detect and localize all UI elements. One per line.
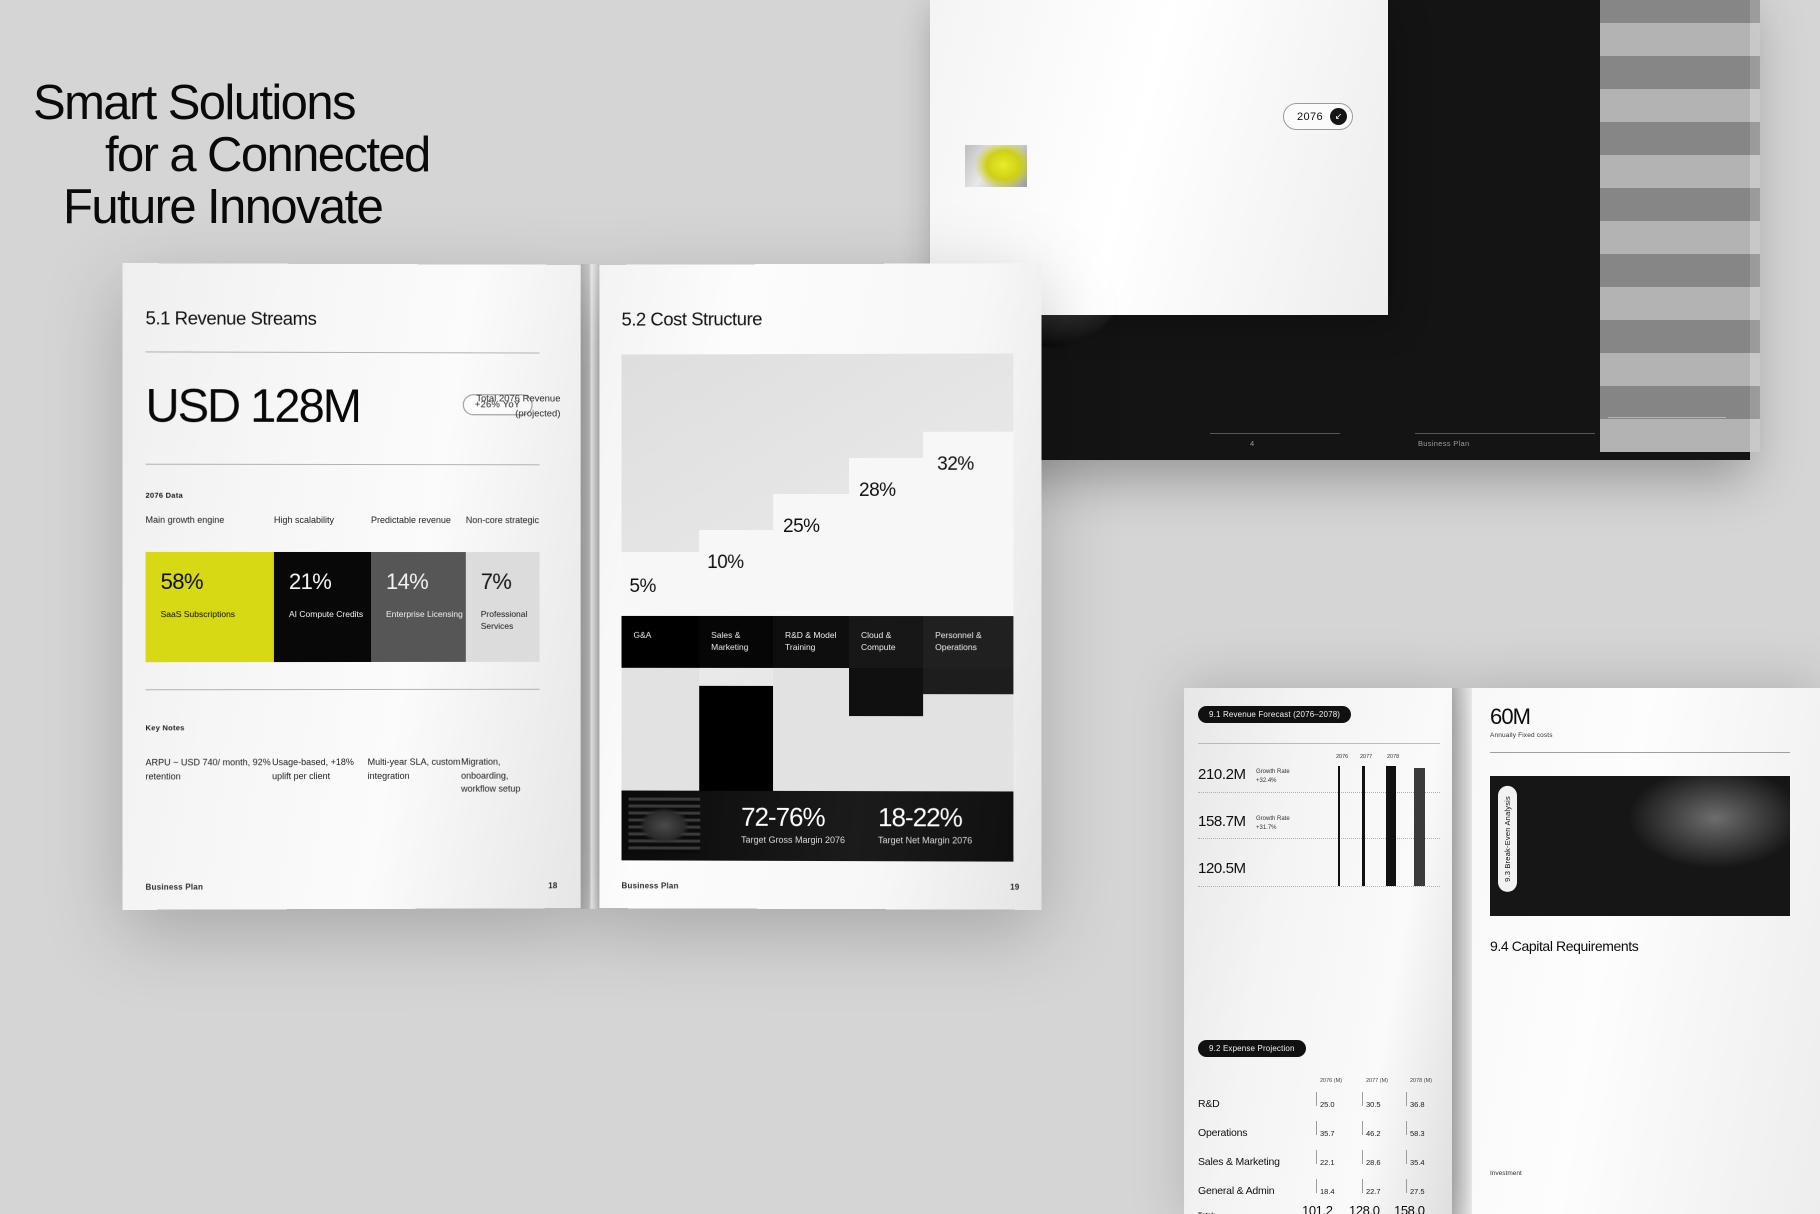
cover-thumbnail-image <box>965 145 1027 187</box>
expense-row-name-2: Sales & Marketing <box>1198 1156 1280 1168</box>
data-kicker: 2076 Data <box>146 491 183 500</box>
segment-label-1: AI Compute Credits <box>289 608 363 620</box>
notes-kicker: Key Notes <box>146 723 185 732</box>
row-tick-a-1 <box>1316 1121 1317 1135</box>
forecast-year-1: 2077 <box>1360 754 1372 760</box>
forecast-bar-1 <box>1362 766 1365 886</box>
striped-sphere-graphic <box>628 798 700 854</box>
cover-footer-rule-right <box>1415 433 1595 434</box>
footer-brand-left: Business Plan <box>146 883 204 892</box>
net-margin-value: 18-22% <box>878 804 972 832</box>
segment-label-0: SaaS Subscriptions <box>161 608 235 620</box>
key-note-2: Multi-year SLA, custom integration <box>368 756 461 797</box>
segment-pct-2: 14% <box>386 571 451 593</box>
page-title-right: 5.2 Cost Structure <box>622 308 763 330</box>
segment-ai-compute[interactable]: 21% AI Compute Credits <box>274 552 371 662</box>
forecast-page: 9.1 Revenue Forecast (2076–2078) 210.2M … <box>1184 688 1452 1214</box>
expense-cell-3-0: 18.4 <box>1320 1187 1335 1196</box>
capital-page: 60M Annually Fixed costs 9.3 Break-Even … <box>1472 688 1820 1214</box>
stair-tail-0 <box>622 668 700 804</box>
cover-footer-rule-left <box>1210 433 1340 434</box>
cover-title: Smart Solutions for a Connected Future I… <box>33 78 453 234</box>
table-row[interactable]: Operations 35.7 46.2 58.3 <box>1198 1121 1440 1150</box>
divider-notes <box>146 689 540 690</box>
forecast-year-2: 2078 <box>1387 754 1399 760</box>
segment-pct-1: 21% <box>289 571 356 593</box>
stair-tail-2 <box>773 668 849 804</box>
margin-summary-panel: 72-76% Target Gross Margin 2076 18-22% T… <box>622 791 1014 862</box>
expense-row-name-1: Operations <box>1198 1127 1247 1139</box>
cover-footer-brand: Business Plan <box>1418 439 1469 448</box>
bottom-right-spread: 9.1 Revenue Forecast (2076–2078) 210.2M … <box>1184 688 1820 1214</box>
row-tick-b-3 <box>1362 1179 1363 1193</box>
forecast-growth-label-1: Growth Rate <box>1256 815 1290 824</box>
stair-tail-4 <box>923 668 1013 694</box>
striped-back-page <box>1600 0 1760 452</box>
expense-cell-2-0: 22.1 <box>1320 1158 1335 1167</box>
segment-label-2: Enterprise Licensing <box>386 608 463 620</box>
breakeven-photo <box>1490 776 1790 916</box>
forecast-bar-0 <box>1338 766 1340 886</box>
table-row[interactable]: R&D 25.0 30.5 36.8 <box>1198 1092 1440 1121</box>
expense-cell-0-0: 25.0 <box>1320 1100 1335 1109</box>
segment-label-3: Professional Services <box>481 608 540 633</box>
footer-page-left: 18 <box>548 881 557 890</box>
expense-cell-1-0: 35.7 <box>1320 1129 1335 1138</box>
expense-col-header-1: 2077 (M) <box>1366 1078 1388 1084</box>
segment-professional[interactable]: 7% Professional Services <box>466 552 540 662</box>
net-margin-label: Target Net Margin 2076 <box>878 835 972 845</box>
page-title: 5.1 Revenue Streams <box>146 307 317 330</box>
expense-cell-2-2: 35.4 <box>1410 1158 1425 1167</box>
striped-page-rule <box>1608 417 1726 418</box>
data-column-3: Non-core strategic <box>466 514 540 528</box>
expense-total-2: 158.0 <box>1394 1203 1425 1214</box>
table-row[interactable]: Sales & Marketing 22.1 28.6 35.4 <box>1198 1150 1440 1179</box>
divider-mid <box>146 464 540 466</box>
gross-margin-item: 72-76% Target Gross Margin 2076 <box>741 804 845 846</box>
cost-cell-rnd[interactable]: R&D & Model Training <box>773 616 849 668</box>
forecast-gridline-2 <box>1198 886 1440 887</box>
capital-requirements-title: 9.4 Capital Requirements <box>1490 938 1640 956</box>
row-tick-c-3 <box>1406 1179 1407 1193</box>
key-note-0: ARPU ~ USD 740/ month, 92% retention <box>146 756 272 797</box>
gross-margin-value: 72-76% <box>741 804 845 832</box>
cover-footer-page: 4 <box>1250 439 1254 448</box>
expense-col-header-2: 2078 (M) <box>1410 1078 1432 1084</box>
key-notes: ARPU ~ USD 740/ month, 92% retention Usa… <box>146 756 540 797</box>
stair-value-4: 32% <box>937 454 974 476</box>
row-tick-b-0 <box>1362 1092 1363 1106</box>
segment-pct-3: 7% <box>481 571 525 593</box>
forecast-badge: 9.1 Revenue Forecast (2076–2078) <box>1198 706 1351 723</box>
stair-value-2: 25% <box>783 516 820 538</box>
cost-label-2: R&D & Model Training <box>785 629 849 654</box>
expense-cell-1-2: 58.3 <box>1410 1129 1425 1138</box>
cost-label-0: G&A <box>633 629 651 641</box>
bottom-right-gutter <box>1452 688 1472 1214</box>
data-columns: Main growth engine High scalability Pred… <box>146 514 540 528</box>
capital-page-rule <box>1490 752 1790 753</box>
forecast-bar-2 <box>1386 766 1396 886</box>
cover-title-line-1: Smart Solutions <box>33 78 453 130</box>
cost-label-band: G&A Sales & Marketing R&D & Model Traini… <box>622 616 1014 668</box>
stair-value-1: 10% <box>707 552 743 574</box>
revenue-segment-bar: 58% SaaS Subscriptions 21% AI Compute Cr… <box>146 552 540 662</box>
row-tick-c-2 <box>1406 1150 1407 1164</box>
cost-cell-personnel[interactable]: Personnel & Operations <box>923 616 1013 668</box>
row-tick-b-2 <box>1362 1150 1363 1164</box>
expense-cell-0-2: 36.8 <box>1410 1100 1425 1109</box>
segment-pct-0: 58% <box>161 571 259 593</box>
cost-label-3: Cloud & Compute <box>861 629 923 654</box>
forecast-value-0: 210.2M <box>1198 766 1246 783</box>
investment-label: Investment <box>1490 1170 1522 1177</box>
fixed-costs-value: 60M <box>1490 704 1530 730</box>
forecast-value-1: 158.7M <box>1198 813 1246 830</box>
footer-brand-right: Business Plan <box>622 881 679 890</box>
expense-total-1: 128.0 <box>1349 1203 1380 1214</box>
revenue-headline: USD 128M <box>146 381 360 429</box>
page-19: 5.2 Cost Structure 5% 10% 25% 28% 32% G&… <box>600 263 1042 910</box>
cover-title-line-3: Future Innovate <box>33 182 453 234</box>
forecast-bars <box>1334 766 1444 886</box>
spread-gutter <box>581 264 599 909</box>
expense-cell-2-1: 28.6 <box>1366 1158 1381 1167</box>
stair-gap-4 <box>923 694 1013 804</box>
cover-title-line-2: for a Connected <box>33 130 453 182</box>
row-tick-b-1 <box>1362 1121 1363 1135</box>
forecast-year-0: 2076 <box>1336 754 1348 760</box>
cost-cell-cloud[interactable]: Cloud & Compute <box>849 616 923 668</box>
stair-value-3: 28% <box>859 480 896 502</box>
arrow-down-left-icon: ↙ <box>1330 108 1347 125</box>
cost-label-4: Personnel & Operations <box>935 629 1013 654</box>
cover-year-badge[interactable]: 2076 ↙ <box>1283 103 1353 130</box>
row-tick-c-1 <box>1406 1121 1407 1135</box>
row-tick-c-0 <box>1406 1092 1407 1106</box>
page-18: 5.1 Revenue Streams USD 128M +26% YoY To… <box>122 263 580 910</box>
cost-cell-sales[interactable]: Sales & Marketing <box>699 616 773 668</box>
expense-row-name-3: General & Admin <box>1198 1185 1274 1197</box>
expense-cell-3-2: 27.5 <box>1410 1187 1425 1196</box>
net-margin-item: 18-22% Target Net Margin 2076 <box>878 804 972 846</box>
total-revenue-note: Total 2076 Revenue (projected) <box>441 392 561 422</box>
fixed-costs-label: Annually Fixed costs <box>1490 732 1553 739</box>
forecast-growth-label-0: Growth Rate <box>1256 768 1290 777</box>
divider-top <box>146 351 540 353</box>
cover-year-label: 2076 <box>1297 111 1323 123</box>
data-column-2: Predictable revenue <box>371 514 466 528</box>
footer-page-right: 19 <box>1010 883 1019 892</box>
expense-cell-1-1: 46.2 <box>1366 1129 1381 1138</box>
expense-table: 2076 (M) 2077 (M) 2078 (M) R&D 25.0 30.5… <box>1198 1092 1440 1208</box>
cost-cell-ga[interactable]: G&A <box>622 616 700 668</box>
segment-enterprise[interactable]: 14% Enterprise Licensing <box>371 552 466 662</box>
breakeven-pill: 9.3 Break-Even Analysis <box>1498 786 1517 892</box>
stair-tail-3 <box>849 668 923 716</box>
row-tick-a-2 <box>1316 1150 1317 1164</box>
expense-row-name-0: R&D <box>1198 1098 1220 1110</box>
data-column-1: High scalability <box>274 514 371 528</box>
stair-step-2 <box>773 494 849 616</box>
stair-value-0: 5% <box>629 576 655 598</box>
expense-cell-0-1: 30.5 <box>1366 1100 1381 1109</box>
main-spread: 5.1 Revenue Streams USD 128M +26% YoY To… <box>123 264 1039 909</box>
scene: Turning Intelligence into Impact Solutio… <box>0 0 1820 1214</box>
key-note-1: Usage-based, +18% uplift per client <box>272 756 368 797</box>
row-tick-a-0 <box>1316 1092 1317 1106</box>
data-column-0: Main growth engine <box>146 514 274 528</box>
expense-col-header-0: 2076 (M) <box>1320 1078 1342 1084</box>
cost-label-1: Sales & Marketing <box>711 629 773 654</box>
forecast-value-2: 120.5M <box>1198 860 1246 877</box>
segment-saas[interactable]: 58% SaaS Subscriptions <box>146 552 274 662</box>
key-note-3: Migration, onboarding, workflow setup <box>461 756 540 797</box>
forecast-growth-0: +32.4% <box>1256 777 1277 786</box>
row-tick-a-3 <box>1316 1179 1317 1193</box>
expense-total-0: 101.2 <box>1302 1203 1333 1214</box>
forecast-rule <box>1198 743 1440 744</box>
cost-structure-chart: 5% 10% 25% 28% 32% G&A Sales & Marketing… <box>622 353 1014 804</box>
stair-tail-1 <box>699 686 773 804</box>
forecast-growth-1: +31.7% <box>1256 824 1277 833</box>
gross-margin-label: Target Gross Margin 2076 <box>741 835 845 845</box>
expense-cell-3-1: 22.7 <box>1366 1187 1381 1196</box>
forecast-bar-3 <box>1414 768 1425 886</box>
expense-badge: 9.2 Expense Projection <box>1198 1040 1306 1057</box>
